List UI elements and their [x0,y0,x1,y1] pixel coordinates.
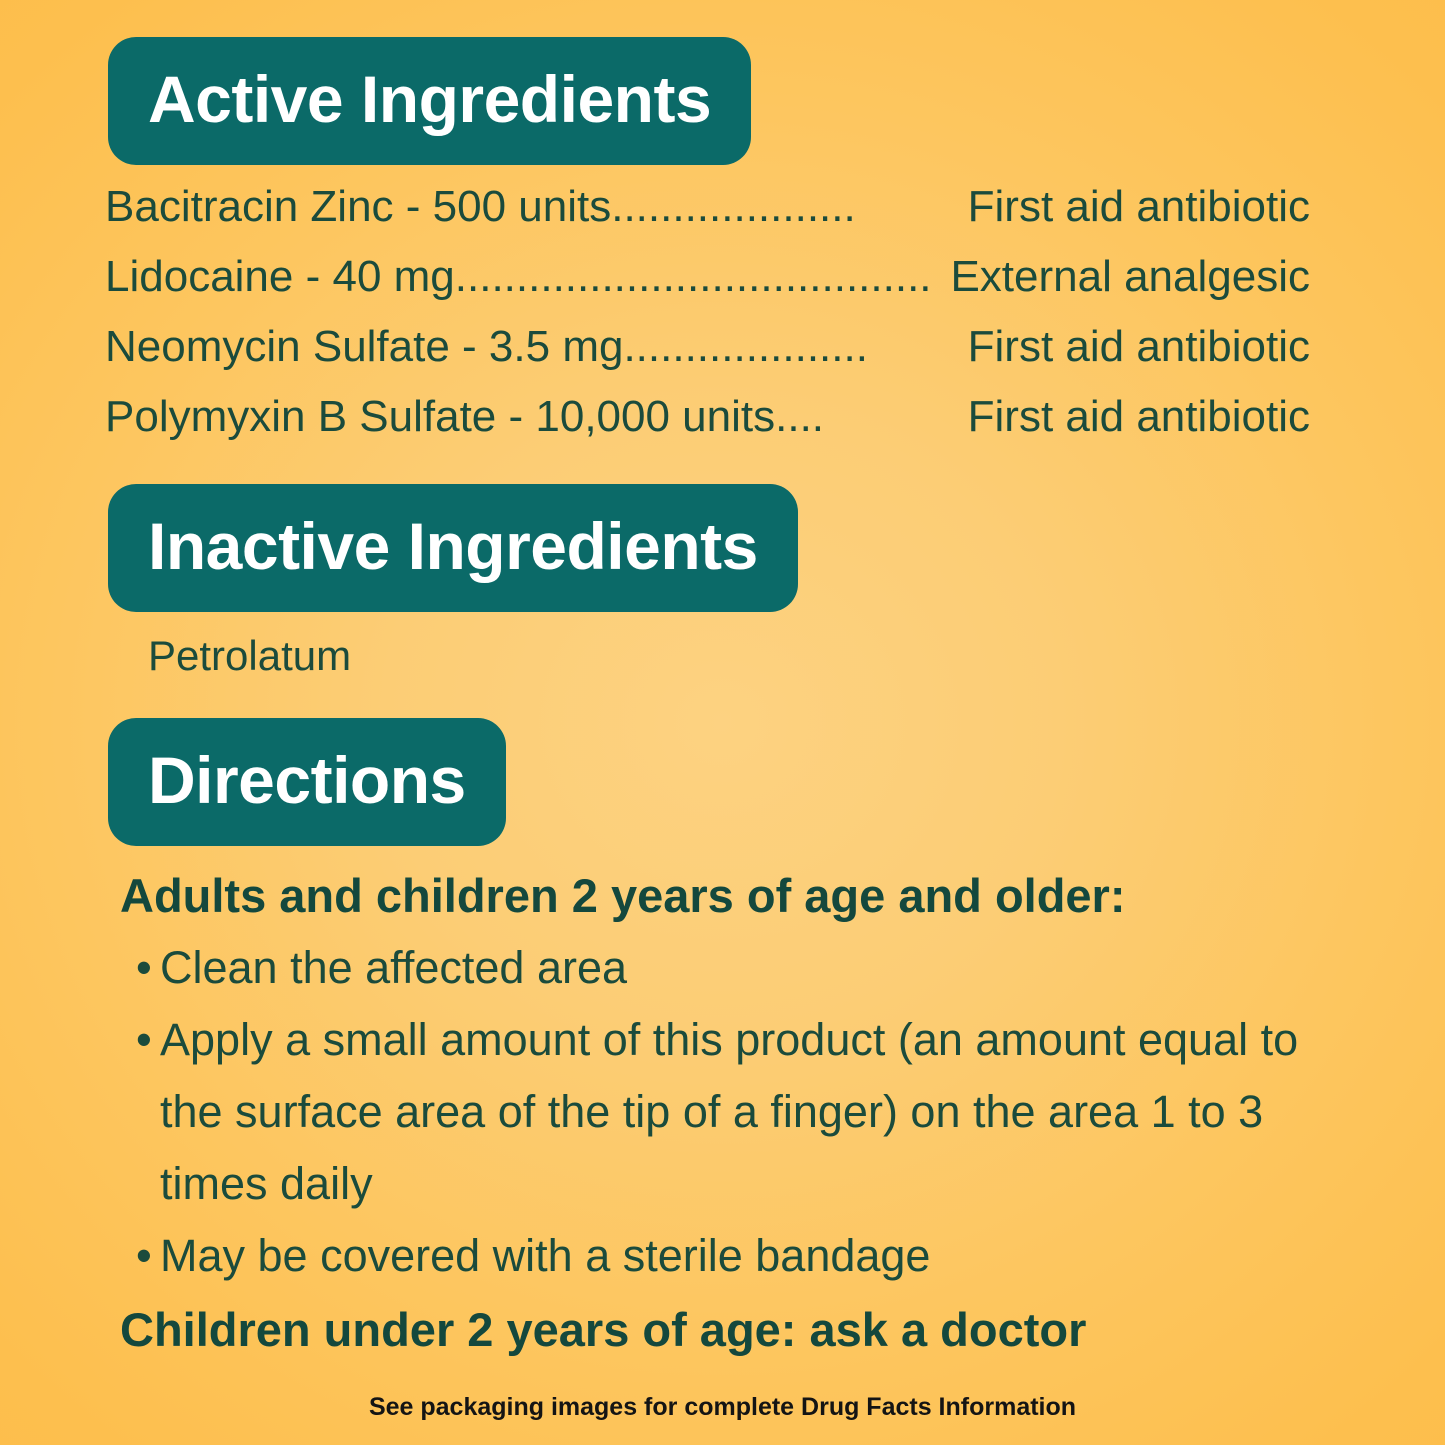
ingredient-purpose: First aid antibiotic [968,312,1310,382]
ingredient-row: Lidocaine - 40 mg ......................… [105,242,1310,312]
directions-bullet-item: • Apply a small amount of this product (… [120,1004,1310,1220]
directions-footnote-children-under-2: Children under 2 years of age: ask a doc… [120,1294,1310,1366]
ingredient-row: Polymyxin B Sulfate - 10,000 units .... … [105,382,1310,452]
drug-facts-panel: Active Ingredients Bacitracin Zinc - 500… [0,0,1445,1445]
ingredient-row: Bacitracin Zinc - 500 units ............… [105,172,1310,242]
ingredient-name: Bacitracin Zinc - 500 units [105,172,611,242]
inactive-ingredients-list: Petrolatum [148,625,351,687]
ingredient-purpose: External analgesic [950,242,1310,312]
leader-dots: .................... [623,312,967,382]
directions-bullet-text: Apply a small amount of this product (an… [160,1014,1298,1209]
bullet-dot-icon: • [136,932,152,1004]
packaging-footer-note: See packaging images for complete Drug F… [0,1393,1445,1422]
bullet-dot-icon: • [136,1220,152,1292]
bullet-dot-icon: • [136,1004,152,1076]
ingredient-name: Neomycin Sulfate - 3.5 mg [105,312,623,382]
directions-bullet-list: • Clean the affected area • Apply a smal… [120,932,1310,1292]
leader-dots: ....................................... [455,242,951,312]
directions-bullet-text: Clean the affected area [160,942,627,993]
directions-bullet-item: • May be covered with a sterile bandage [120,1220,1310,1292]
active-ingredients-list: Bacitracin Zinc - 500 units ............… [105,172,1310,452]
directions-heading-adults: Adults and children 2 years of age and o… [120,860,1310,932]
ingredient-purpose: First aid antibiotic [968,172,1310,242]
ingredient-purpose: First aid antibiotic [968,382,1310,452]
section-badge-directions: Directions [108,718,506,846]
directions-bullet-text: May be covered with a sterile bandage [160,1230,930,1281]
section-badge-active-ingredients: Active Ingredients [108,37,751,165]
ingredient-row: Neomycin Sulfate - 3.5 mg ..............… [105,312,1310,382]
directions-bullet-item: • Clean the affected area [120,932,1310,1004]
leader-dots: .... [775,382,968,452]
directions-content: Adults and children 2 years of age and o… [120,860,1310,1366]
ingredient-name: Lidocaine - 40 mg [105,242,455,312]
leader-dots: .................... [611,172,967,242]
section-badge-inactive-ingredients: Inactive Ingredients [108,484,798,612]
inactive-ingredient-item: Petrolatum [148,625,351,687]
ingredient-name: Polymyxin B Sulfate - 10,000 units [105,382,775,452]
